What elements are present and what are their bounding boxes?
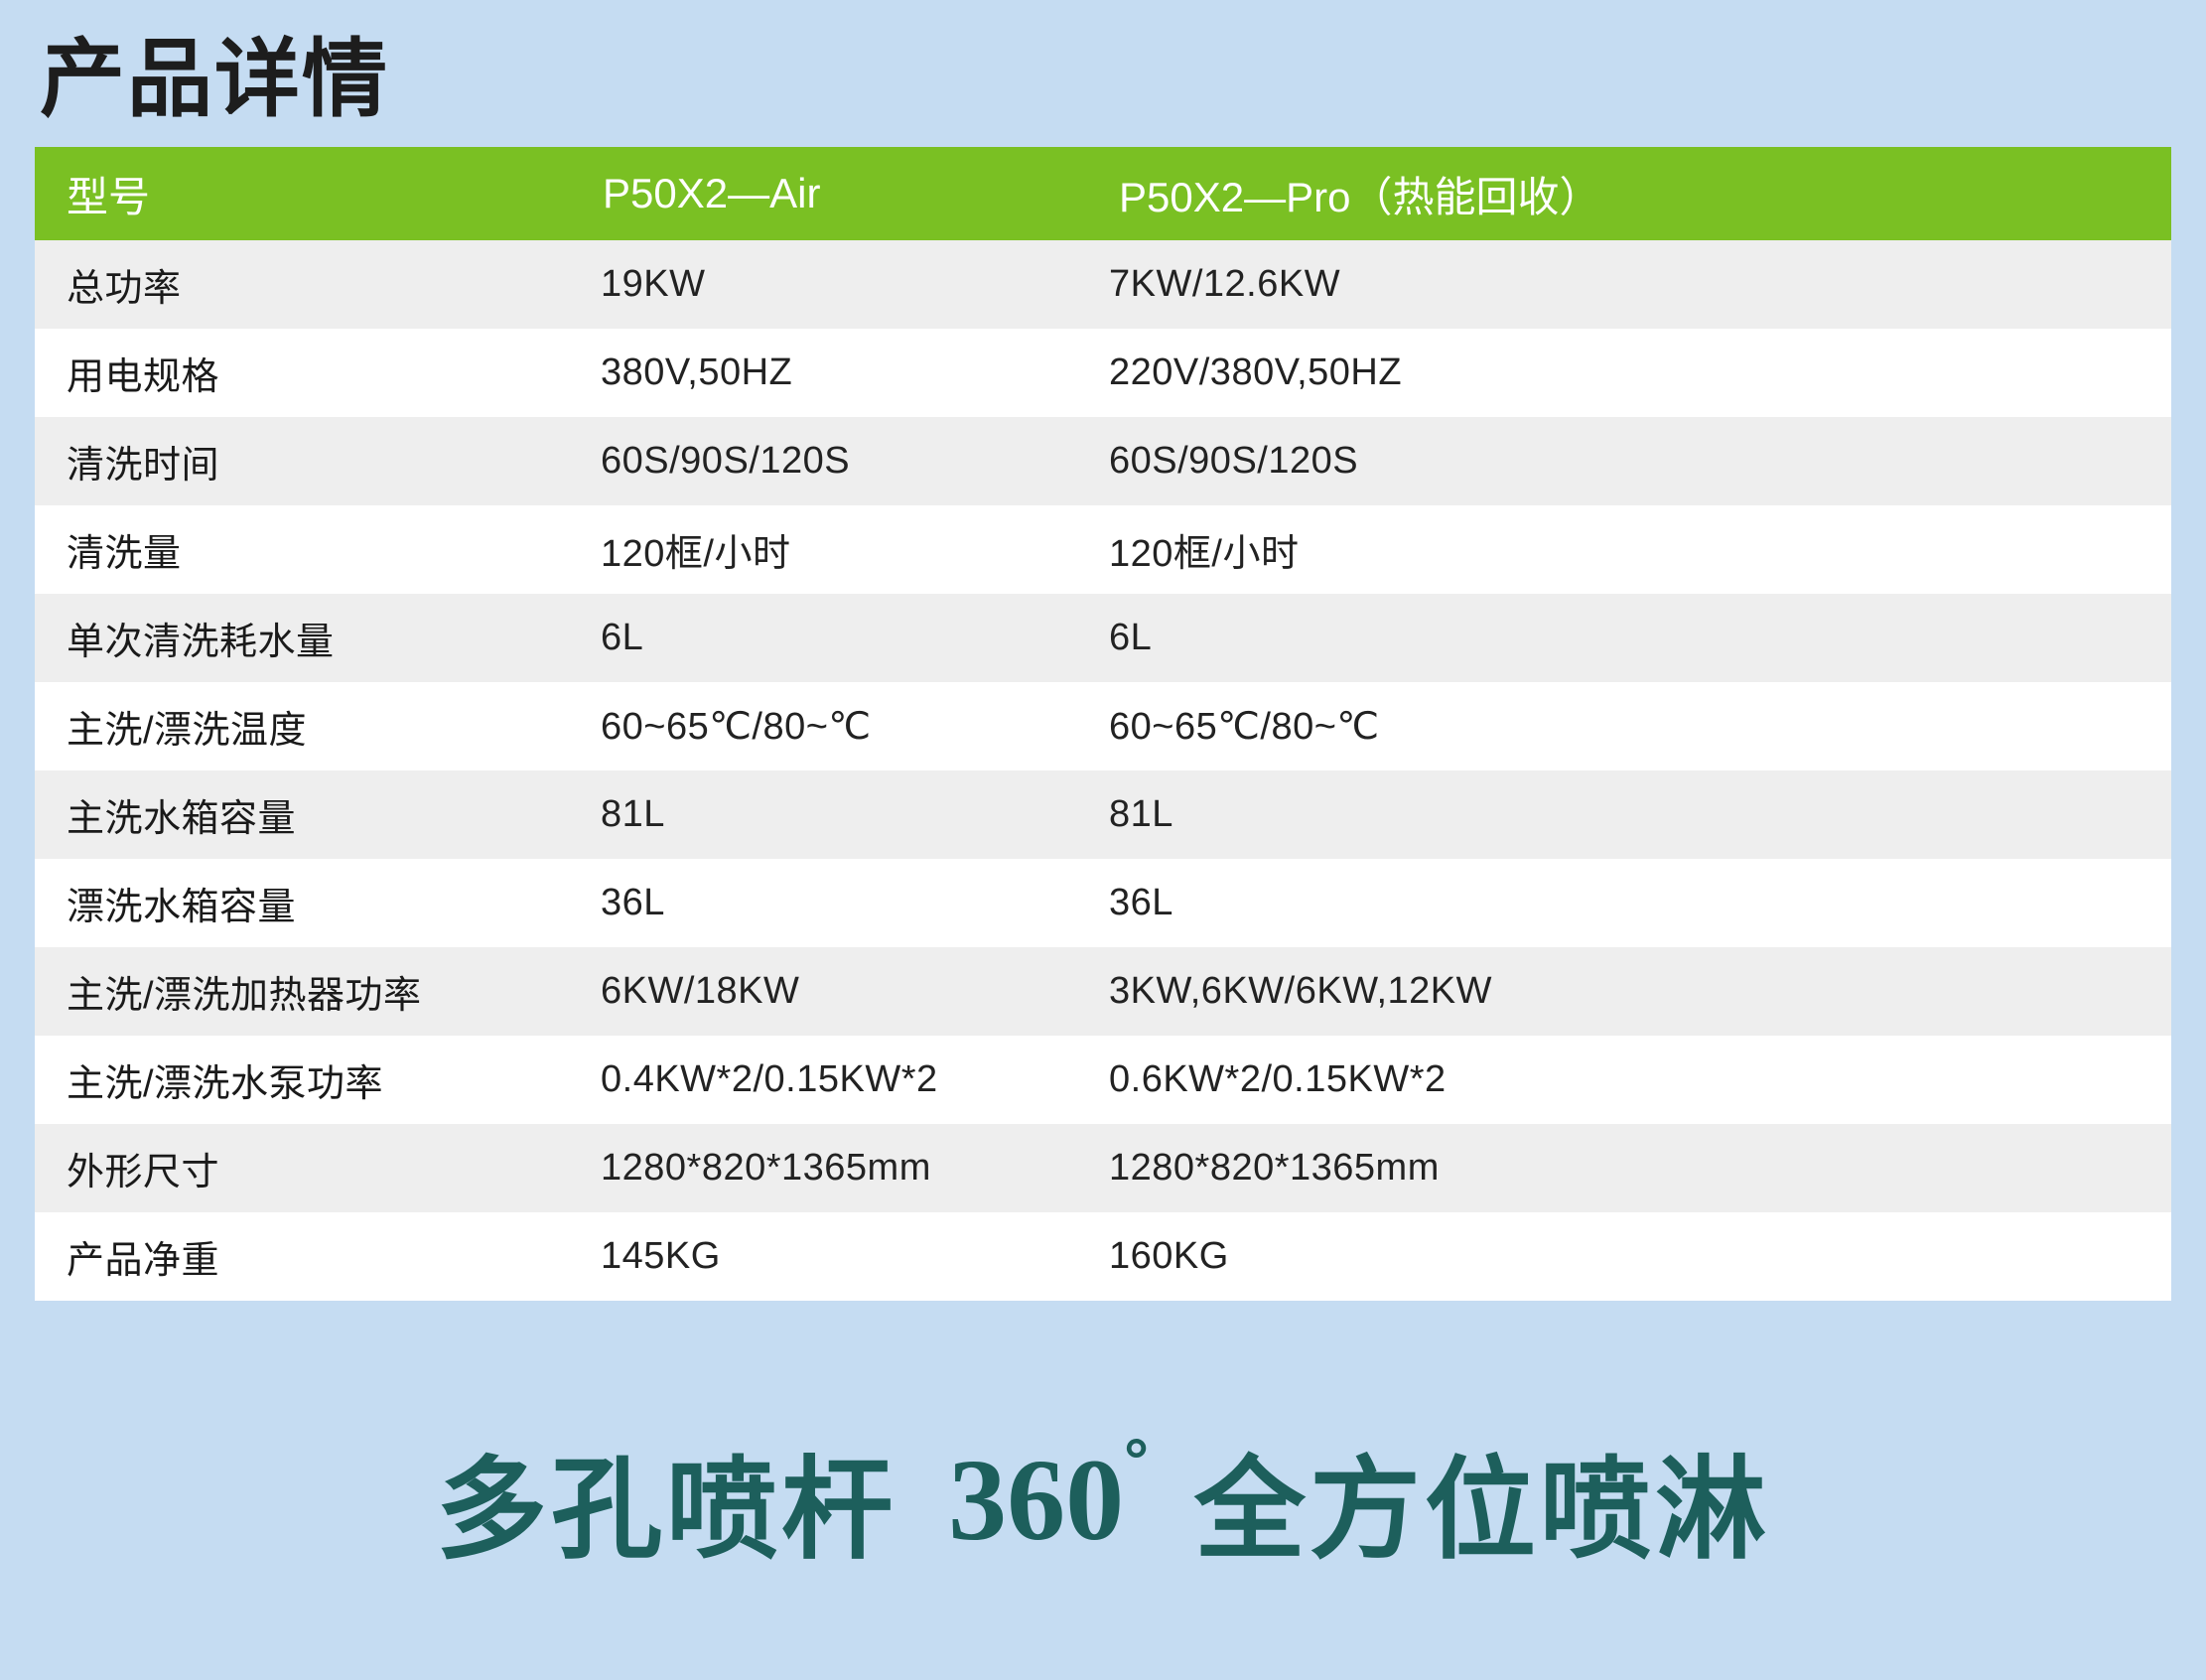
table-row: 产品净重145KG160KG <box>35 1212 2171 1301</box>
header-model: 型号 <box>35 147 571 240</box>
table-row: 漂洗水箱容量36L36L <box>35 859 2171 947</box>
table-row: 主洗水箱容量81L81L <box>35 770 2171 859</box>
table-row: 主洗/漂洗温度60~65℃/80~℃60~65℃/80~℃ <box>35 682 2171 770</box>
tagline-part2: 全方位喷淋 <box>1194 1448 1770 1572</box>
spec-value-pro: 3KW,6KW/6KW,12KW <box>1087 947 2171 1036</box>
spec-value-pro: 120框/小时 <box>1087 505 2171 594</box>
table-row: 清洗量120框/小时120框/小时 <box>35 505 2171 594</box>
spec-label: 主洗水箱容量 <box>35 770 571 859</box>
bottom-tagline: 多孔喷杆360°全方位喷淋 <box>0 1420 2206 1581</box>
spec-label: 清洗时间 <box>35 417 571 505</box>
spec-value-air: 145KG <box>571 1212 1087 1301</box>
spec-value-air: 6KW/18KW <box>571 947 1087 1036</box>
table-row: 总功率19KW7KW/12.6KW <box>35 240 2171 329</box>
header-p50x2-air: P50X2—Air <box>571 147 1087 240</box>
spec-label: 用电规格 <box>35 329 571 417</box>
spec-label: 单次清洗耗水量 <box>35 594 571 682</box>
spec-value-air: 380V,50HZ <box>571 329 1087 417</box>
table-row: 主洗/漂洗水泵功率0.4KW*2/0.15KW*20.6KW*2/0.15KW*… <box>35 1036 2171 1124</box>
spec-value-air: 60~65℃/80~℃ <box>571 682 1087 770</box>
page-title: 产品详情 <box>40 28 389 131</box>
spec-value-air: 81L <box>571 770 1087 859</box>
spec-value-pro: 160KG <box>1087 1212 2171 1301</box>
spec-value-air: 6L <box>571 594 1087 682</box>
specification-table: 型号 P50X2—Air P50X2—Pro（热能回收） 总功率19KW7KW/… <box>35 147 2171 1301</box>
spec-label: 清洗量 <box>35 505 571 594</box>
spec-label: 主洗/漂洗水泵功率 <box>35 1036 571 1124</box>
header-p50x2-pro: P50X2—Pro（热能回收） <box>1087 147 2171 240</box>
spec-value-pro: 81L <box>1087 770 2171 859</box>
spec-label: 产品净重 <box>35 1212 571 1301</box>
degree-symbol: ° <box>1124 1427 1149 1495</box>
spec-value-pro: 60S/90S/120S <box>1087 417 2171 505</box>
tagline-part1: 多孔喷杆 <box>436 1448 896 1572</box>
spec-label: 主洗/漂洗温度 <box>35 682 571 770</box>
spec-label: 漂洗水箱容量 <box>35 859 571 947</box>
spec-value-air: 120框/小时 <box>571 505 1087 594</box>
spec-value-pro: 7KW/12.6KW <box>1087 240 2171 329</box>
spec-label: 外形尺寸 <box>35 1124 571 1212</box>
product-detail-page: 产品详情 型号 P50X2—Air P50X2—Pro（热能回收） 总功率19K… <box>0 0 2206 1680</box>
table-row: 外形尺寸1280*820*1365mm1280*820*1365mm <box>35 1124 2171 1212</box>
spec-value-pro: 36L <box>1087 859 2171 947</box>
spec-value-air: 1280*820*1365mm <box>571 1124 1087 1212</box>
table-body: 总功率19KW7KW/12.6KW用电规格380V,50HZ220V/380V,… <box>35 240 2171 1301</box>
spec-value-pro: 0.6KW*2/0.15KW*2 <box>1087 1036 2171 1124</box>
spec-label: 总功率 <box>35 240 571 329</box>
table-row: 清洗时间60S/90S/120S60S/90S/120S <box>35 417 2171 505</box>
spec-value-pro: 220V/380V,50HZ <box>1087 329 2171 417</box>
spec-value-air: 0.4KW*2/0.15KW*2 <box>571 1036 1087 1124</box>
table-row: 单次清洗耗水量6L6L <box>35 594 2171 682</box>
spec-value-air: 60S/90S/120S <box>571 417 1087 505</box>
spec-value-pro: 1280*820*1365mm <box>1087 1124 2171 1212</box>
table-header-row: 型号 P50X2—Air P50X2—Pro（热能回收） <box>35 147 2171 240</box>
spec-label: 主洗/漂洗加热器功率 <box>35 947 571 1036</box>
spec-value-pro: 60~65℃/80~℃ <box>1087 682 2171 770</box>
table-row: 用电规格380V,50HZ220V/380V,50HZ <box>35 329 2171 417</box>
spec-value-air: 19KW <box>571 240 1087 329</box>
tagline-number: 360 <box>948 1435 1124 1565</box>
table-row: 主洗/漂洗加热器功率6KW/18KW3KW,6KW/6KW,12KW <box>35 947 2171 1036</box>
spec-value-air: 36L <box>571 859 1087 947</box>
spec-value-pro: 6L <box>1087 594 2171 682</box>
